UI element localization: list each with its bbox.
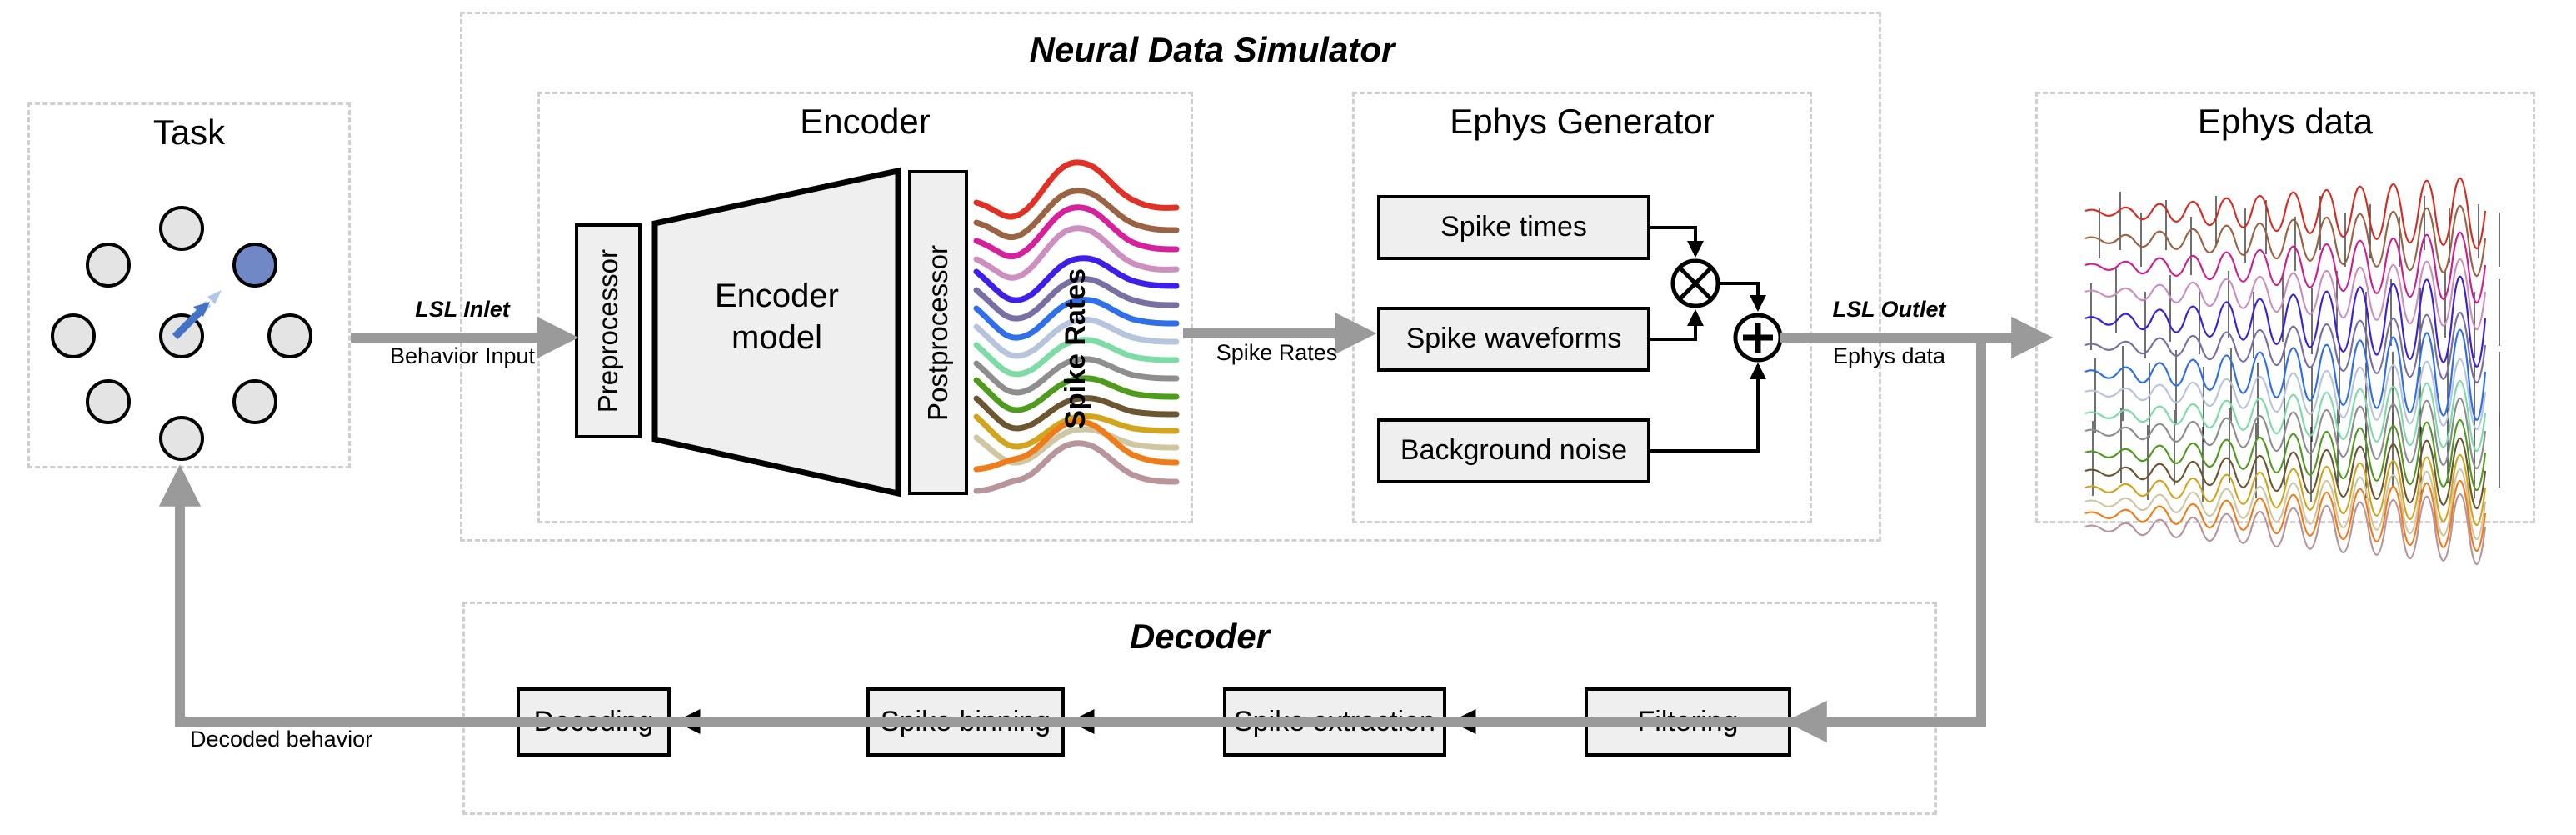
decoder-block-spike-extraction-label: Spike extraction: [1234, 706, 1435, 738]
decoder-block-decoding-label: Decoding: [534, 706, 654, 738]
connector-decoded-behavior-label: Decoded behavior: [190, 727, 440, 752]
spike-rates-plot-label: Spike Rates: [1060, 268, 1092, 429]
panel-task: [27, 102, 351, 468]
decoder-block-filtering[interactable]: Filtering: [1585, 687, 1791, 757]
ephys-block-spike-times-label: Spike times: [1440, 211, 1587, 243]
connector-ephys-out-line1: LSL Outlet: [1791, 297, 1987, 322]
connector-spike-rates-label: Spike Rates: [1187, 340, 1366, 366]
preprocessor-block[interactable]: Preprocessor: [575, 223, 642, 438]
decoder-block-spike-extraction[interactable]: Spike extraction: [1223, 687, 1446, 757]
decoder-block-spike-binning[interactable]: Spike binning: [866, 687, 1065, 757]
ephys-data-title: Ephys data: [2035, 102, 2535, 142]
postprocessor-label: Postprocessor: [922, 245, 954, 421]
decoder-block-filtering-label: Filtering: [1638, 706, 1739, 738]
encoder-model-line-2: model: [675, 317, 879, 358]
ephys-block-spike-waveforms-label: Spike waveforms: [1406, 322, 1622, 355]
ephys-block-spike-times[interactable]: Spike times: [1377, 195, 1650, 260]
ephys-generator-title: Ephys Generator: [1352, 102, 1812, 142]
postprocessor-block[interactable]: Postprocessor: [908, 170, 968, 495]
encoder-model-line-1: Encoder: [675, 275, 879, 317]
diagram-canvas: Neural Data Simulator Task Encoder Ephys…: [0, 0, 2576, 835]
connector-ephys-out-line2: Ephys data: [1791, 343, 1987, 369]
decoder-block-spike-binning-label: Spike binning: [881, 706, 1051, 738]
ephys-block-background-noise[interactable]: Background noise: [1377, 418, 1650, 483]
encoder-model-label: Encoder model: [675, 275, 879, 358]
panel-ephys-data: [2035, 92, 2535, 523]
connector-behavior-input-line2: Behavior Input: [358, 343, 567, 369]
connector-behavior-input-line1: LSL Inlet: [358, 297, 567, 322]
ephys-block-spike-waveforms[interactable]: Spike waveforms: [1377, 307, 1650, 372]
decoder-title: Decoder: [462, 617, 1937, 657]
decoder-block-decoding[interactable]: Decoding: [517, 687, 671, 757]
task-title: Task: [27, 112, 351, 152]
ephys-block-background-noise-label: Background noise: [1400, 434, 1627, 467]
encoder-title: Encoder: [537, 102, 1193, 142]
preprocessor-label: Preprocessor: [592, 249, 624, 412]
simulator-title: Neural Data Simulator: [921, 30, 1504, 70]
